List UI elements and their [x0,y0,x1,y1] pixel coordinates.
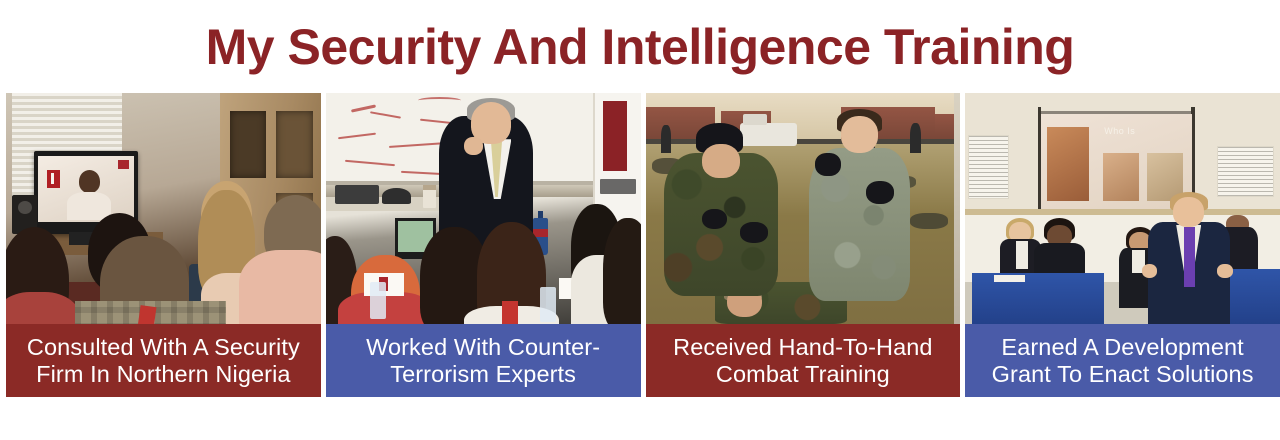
caption-text: Worked With Counter- Terrorism Experts [366,334,600,388]
gallery-card[interactable]: Received Hand-To-Hand Combat Training [646,93,961,397]
coffee-cup [423,185,436,208]
card-caption: Consulted With A Security Firm In Northe… [6,324,321,397]
parked-vehicle [740,123,797,146]
distant-soldier [910,123,921,153]
gallery-card[interactable]: Worked With Counter- Terrorism Experts [326,93,641,397]
wall-poster [968,135,1009,200]
title-bar: My Security And Intelligence Training [0,0,1280,93]
card-caption: Received Hand-To-Hand Combat Training [646,324,961,397]
gallery-card[interactable]: Who Is [965,93,1280,397]
gear-pile [910,213,948,229]
table-papers [994,275,1025,282]
wall-poster [1217,146,1274,197]
caption-text: Earned A Development Grant To Enact Solu… [992,334,1254,388]
soldier-glove [815,153,840,176]
card-caption: Earned A Development Grant To Enact Solu… [965,324,1280,397]
caption-text: Consulted With A Security Firm In Northe… [27,334,300,388]
guest-speaker-classroom-photo [326,93,641,324]
photo-gallery: Consulted With A Security Firm In Northe… [6,93,1280,397]
slide-photo [1103,153,1139,202]
screen-logo [47,170,60,187]
card-caption: Worked With Counter- Terrorism Experts [326,324,641,397]
soldier-glove [866,181,894,204]
distant-soldier [661,125,670,153]
soldier-woodland-camo-head [702,144,740,179]
draped-table [972,273,1104,324]
banner-text [600,179,636,194]
videoconference-classroom-photo [6,93,321,324]
attendee-body [239,250,321,324]
remote-participant-head [79,170,100,193]
speaker-hand [464,137,483,155]
presenter-shirt [1016,241,1029,269]
main-presenter-hand [1142,264,1158,278]
soldier-glove [740,222,768,243]
desk-equipment [335,185,379,203]
page-title: My Security And Intelligence Training [206,22,1075,72]
shelf-cubby [230,111,266,178]
lanyard [502,301,518,324]
slide-heading-text: Who Is [1104,124,1161,137]
whiteboard-curve [418,97,461,104]
water-bottle [370,282,386,319]
soldier-digital-camo-head [841,116,879,153]
poster-page: My Security And Intelligence Training [0,0,1280,440]
wall-trim [965,209,1280,216]
main-presenter-head [1173,197,1204,227]
water-bottle [540,287,556,322]
student-head [603,218,641,324]
screen-logo-mark [51,173,54,183]
slide-photo [1047,127,1089,201]
main-presenter-tie [1184,227,1195,287]
shelf-cubby [276,111,312,178]
photo-edge [954,93,960,324]
desk-equipment [382,188,410,204]
banner-graphic [603,101,627,171]
combat-training-field-photo [646,93,961,324]
remote-participant-body [67,192,111,220]
gallery-card[interactable]: Consulted With A Security Firm In Northe… [6,93,321,397]
projector-screen: Who Is [1041,114,1192,211]
caption-text: Received Hand-To-Hand Combat Training [673,334,932,388]
screen-corner-tag [118,160,129,169]
main-presenter-hand [1217,264,1233,278]
grant-presentation-photo: Who Is [965,93,1280,324]
soldier-glove [702,209,727,230]
